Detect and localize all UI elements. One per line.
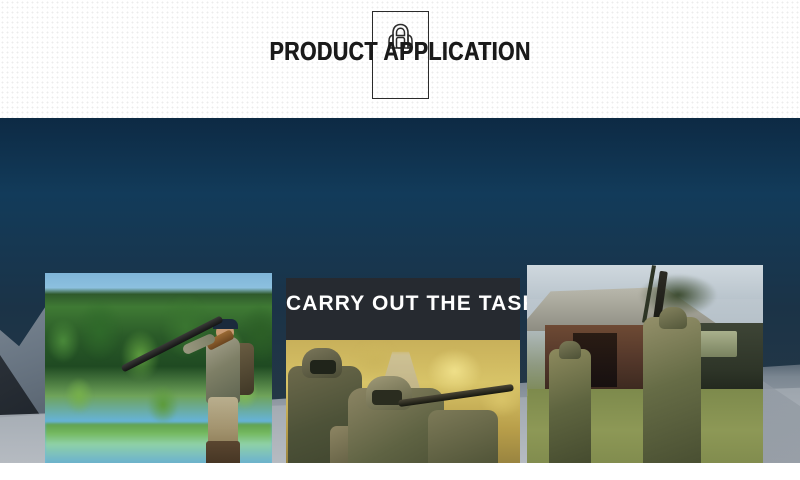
bottom-white-strip xyxy=(0,463,800,480)
photo-card-carry-out-the-task[interactable] xyxy=(286,340,520,463)
header-inner: PRODUCT APPLICATION xyxy=(0,0,800,118)
page-title: PRODUCT APPLICATION xyxy=(72,36,728,67)
training-soldier-1-body xyxy=(549,349,591,463)
hunter-figure xyxy=(192,309,254,463)
training-soldier-2-head xyxy=(659,307,687,329)
training-soldier-2-body xyxy=(643,317,701,463)
application-banner: CARRY OUT THE TASK xyxy=(0,118,800,463)
task-soldier-1-visor xyxy=(310,360,336,374)
task-soldier-3-body xyxy=(428,410,498,463)
photo-card-hunting[interactable] xyxy=(45,273,272,463)
photo-card-military-training[interactable] xyxy=(527,265,763,463)
hunter-boots xyxy=(206,441,240,463)
product-application-page: PRODUCT APPLICATION xyxy=(0,0,800,480)
page-header: PRODUCT APPLICATION xyxy=(0,0,800,118)
training-soldier-1-head xyxy=(559,341,581,359)
